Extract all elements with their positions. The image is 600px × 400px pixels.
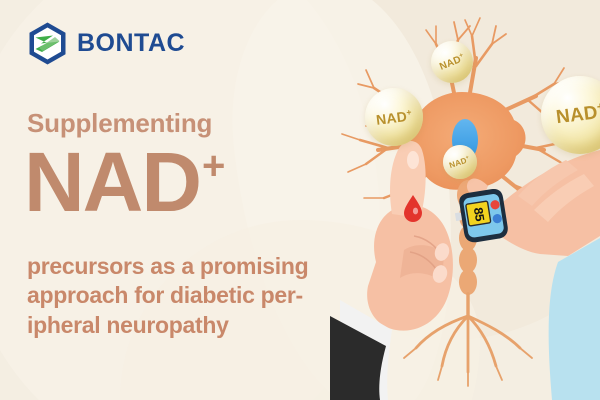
headline-main-text: NAD [24, 140, 200, 224]
brand-name: BONTAC [77, 31, 185, 56]
nad-bubble-medium-label: NAD+ [375, 107, 413, 128]
nad-bubble-small: NAD+ [431, 41, 473, 83]
nad-bubble-tiny-label: NAD+ [449, 154, 472, 169]
nad-bubble-tiny: NAD+ [443, 145, 477, 179]
blood-glucose-meter[interactable]: 85 [452, 186, 512, 249]
blood-drop-icon [403, 194, 423, 222]
poster-canvas: BONTAC Supplementing NAD+ precursors as … [0, 0, 600, 400]
nad-bubble-medium: NAD+ [365, 88, 423, 146]
headline-main-superscript: + [202, 146, 223, 186]
headline-main: NAD+ [24, 140, 223, 224]
brand-logo[interactable]: BONTAC [25, 21, 185, 66]
headline-body: precursors as a promising approach for d… [27, 252, 357, 340]
nad-bubble-small-label: NAD+ [438, 51, 467, 72]
right-hand [467, 150, 600, 400]
nad-bubble-large-label: NAD+ [554, 100, 600, 129]
meter-reading: 85 [467, 203, 489, 226]
bontac-hexagon-logo-icon [25, 21, 70, 66]
